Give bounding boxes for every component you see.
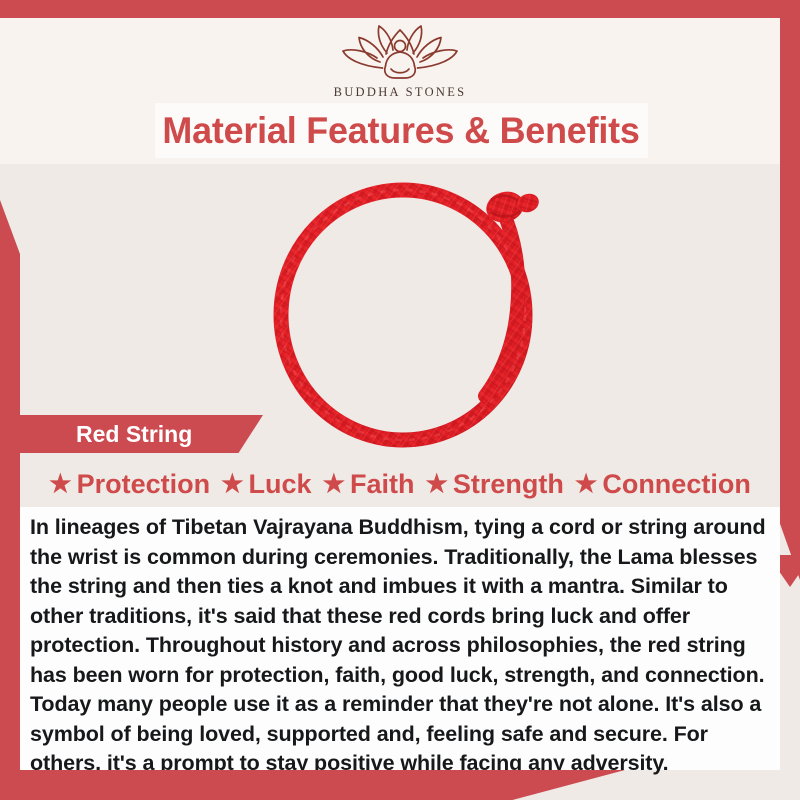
benefit-item-luck: ★ Luck	[221, 469, 311, 500]
benefit-item-connection: ★ Connection	[575, 469, 751, 500]
brand-wordmark: BUDDHA STONES	[334, 85, 467, 100]
lotus-meditation-icon	[325, 22, 475, 84]
star-icon: ★	[221, 472, 243, 497]
benefit-label: Luck	[249, 469, 312, 500]
page-title-box: Material Features & Benefits	[155, 103, 648, 158]
infographic-page: BUDDHA STONES Material Features & Benefi…	[0, 0, 800, 800]
benefit-label: Protection	[77, 469, 211, 500]
decor-left-red-bar	[0, 200, 20, 800]
star-icon: ★	[425, 472, 447, 497]
benefit-item-faith: ★ Faith	[323, 469, 415, 500]
decor-right-red-bar	[780, 18, 800, 580]
benefits-list: ★ Protection ★ Luck ★ Faith ★ Strength ★…	[20, 462, 780, 507]
benefit-label: Connection	[602, 469, 751, 500]
product-image	[245, 160, 575, 460]
product-label-text: Red String	[76, 421, 192, 448]
benefit-item-protection: ★ Protection	[49, 469, 210, 500]
description-text: In lineages of Tibetan Vajrayana Buddhis…	[30, 513, 766, 779]
product-label-ribbon: Red String	[18, 415, 263, 453]
benefit-item-strength: ★ Strength	[425, 469, 563, 500]
brand-logo: BUDDHA STONES	[0, 22, 800, 102]
decor-top-red-bar	[0, 0, 800, 18]
page-title: Material Features & Benefits	[163, 110, 640, 152]
star-icon: ★	[323, 472, 345, 497]
description-panel: In lineages of Tibetan Vajrayana Buddhis…	[20, 507, 780, 770]
benefit-label: Faith	[350, 469, 415, 500]
star-icon: ★	[49, 472, 71, 497]
benefit-label: Strength	[453, 469, 564, 500]
star-icon: ★	[575, 472, 597, 497]
